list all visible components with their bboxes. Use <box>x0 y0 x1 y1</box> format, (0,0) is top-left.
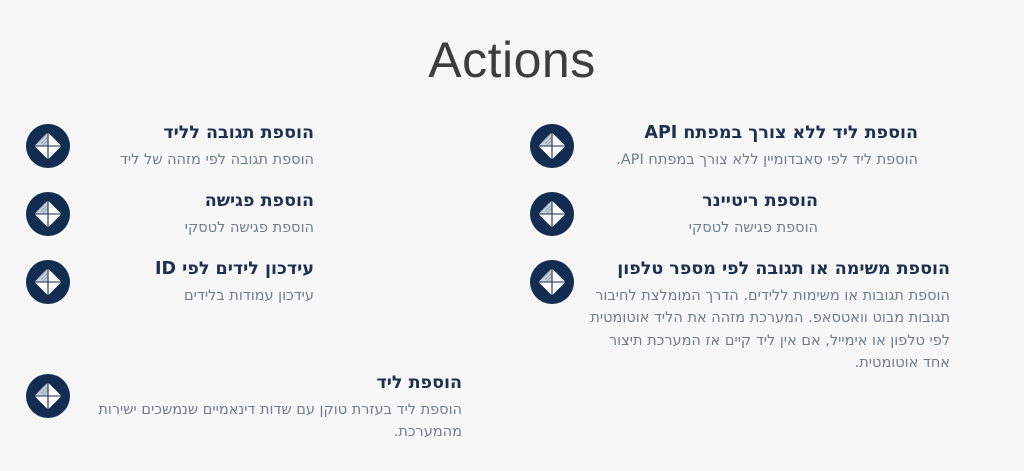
actions-page: Actions <box>0 0 1024 471</box>
feature-title: הוספת ליד <box>84 372 462 396</box>
feature-description: הוספת תגובה לפי מזהה של ליד <box>84 149 314 171</box>
feature-item-add-retainer[interactable]: הוספת ריטיינר הוספת פגישה לטסקי <box>530 190 818 239</box>
feature-description: הוספת ליד בעזרת טוקן עם שדות דינאמיים שנ… <box>84 399 462 444</box>
feature-text: הוספת משימה או תגובה לפי מספר טלפון הוספ… <box>588 258 950 375</box>
feature-description: הוספת פגישה לטסקי <box>588 217 818 239</box>
diamond-node-icon <box>26 260 70 304</box>
feature-text: הוספת ריטיינר הוספת פגישה לטסקי <box>588 190 818 239</box>
feature-description: הוספת פגישה לטסקי <box>84 217 314 239</box>
feature-text: הוספת ליד ללא צורך במפתח API הוספת ליד ל… <box>588 122 918 171</box>
diamond-node-icon <box>26 124 70 168</box>
feature-description: הוספת תגובות או משימות ללידים. הדרך המומ… <box>588 285 950 375</box>
feature-item-add-lead[interactable]: הוספת ליד הוספת ליד בעזרת טוקן עם שדות ד… <box>26 372 462 444</box>
feature-text: עידכון לידים לפי ID עידכון עמודות בלידים <box>84 258 314 307</box>
feature-text: הוספת תגובה לליד הוספת תגובה לפי מזהה של… <box>84 122 314 171</box>
feature-text: הוספת ליד הוספת ליד בעזרת טוקן עם שדות ד… <box>84 372 462 444</box>
diamond-node-icon <box>26 192 70 236</box>
diamond-node-icon <box>530 192 574 236</box>
feature-title: הוספת ריטיינר <box>588 190 818 214</box>
feature-description: הוספת ליד לפי סאבדומיין ללא צורך במפתח A… <box>588 149 918 171</box>
feature-item-add-meeting[interactable]: הוספת פגישה הוספת פגישה לטסקי <box>26 190 314 239</box>
feature-title: הוספת פגישה <box>84 190 314 214</box>
feature-description: עידכון עמודות בלידים <box>84 285 314 307</box>
feature-title: הוספת ליד ללא צורך במפתח API <box>588 122 918 146</box>
feature-item-add-comment-to-lead[interactable]: הוספת תגובה לליד הוספת תגובה לפי מזהה של… <box>26 122 314 171</box>
diamond-node-icon <box>26 374 70 418</box>
feature-item-add-lead-without-api-key[interactable]: הוספת ליד ללא צורך במפתח API הוספת ליד ל… <box>530 122 918 171</box>
feature-title: הוספת משימה או תגובה לפי מספר טלפון <box>588 258 950 282</box>
feature-item-add-task-or-comment-by-phone[interactable]: הוספת משימה או תגובה לפי מספר טלפון הוספ… <box>530 258 950 375</box>
feature-text: הוספת פגישה הוספת פגישה לטסקי <box>84 190 314 239</box>
feature-title: הוספת תגובה לליד <box>84 122 314 146</box>
diamond-node-icon <box>530 260 574 304</box>
page-title: Actions <box>0 0 1024 90</box>
feature-title: עידכון לידים לפי ID <box>84 258 314 282</box>
feature-item-update-leads-by-id[interactable]: עידכון לידים לפי ID עידכון עמודות בלידים <box>26 258 314 307</box>
diamond-node-icon <box>530 124 574 168</box>
